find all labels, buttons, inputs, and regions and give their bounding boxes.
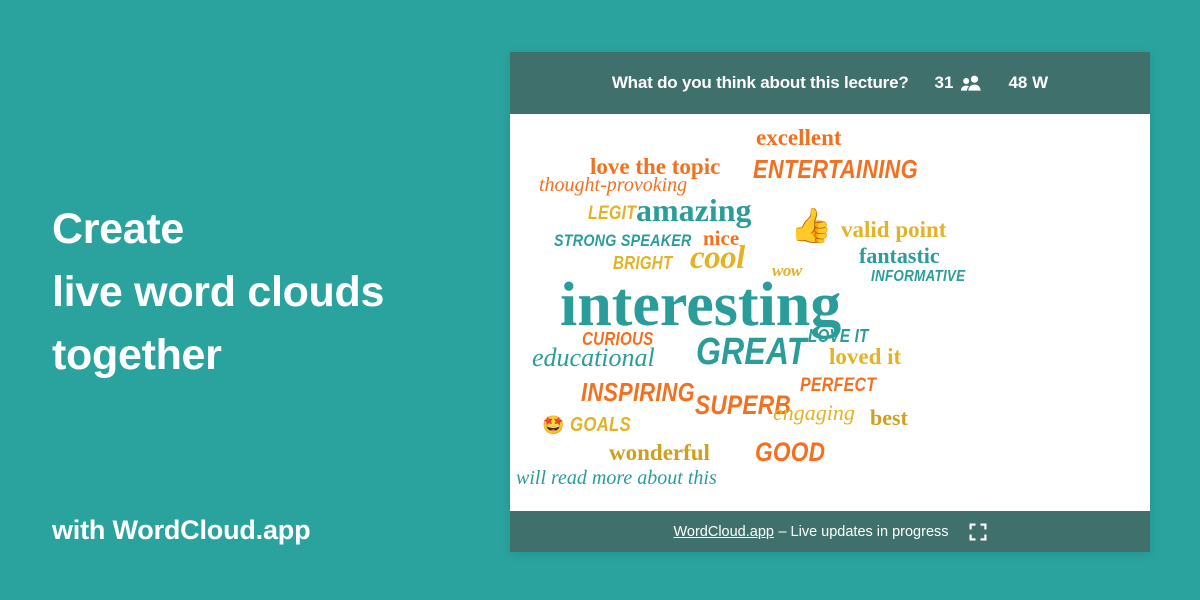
cloud-word[interactable]: loved it bbox=[829, 345, 901, 368]
cloud-word[interactable]: amazing bbox=[636, 194, 752, 226]
cloud-word[interactable]: INSPIRING bbox=[581, 379, 695, 405]
footer-content: WordCloud.app – Live updates in progress bbox=[673, 523, 948, 541]
cloud-word[interactable]: excellent bbox=[756, 126, 842, 149]
card-footer: WordCloud.app – Live updates in progress bbox=[510, 511, 1150, 552]
cloud-word[interactable]: valid point bbox=[841, 218, 946, 241]
participants-count: 31 bbox=[935, 73, 954, 93]
cloud-word[interactable]: best bbox=[870, 407, 908, 429]
headline-line-3: together bbox=[52, 324, 472, 387]
live-status-text: – Live updates in progress bbox=[778, 524, 948, 540]
cloud-word[interactable]: GOOD bbox=[755, 439, 825, 466]
card-header: What do you think about this lecture? 31… bbox=[510, 52, 1150, 114]
cloud-word[interactable]: interesting bbox=[560, 274, 841, 336]
cloud-word[interactable]: GREAT bbox=[696, 333, 807, 371]
promo-panel: Create live word clouds together with Wo… bbox=[0, 0, 500, 600]
cloud-word[interactable]: fantastic bbox=[859, 245, 940, 267]
participants-stat: 31 bbox=[935, 73, 983, 93]
cloud-word[interactable]: PERFECT bbox=[800, 376, 876, 395]
people-icon bbox=[960, 75, 982, 91]
cloud-word[interactable]: LEGIT bbox=[588, 204, 636, 223]
cloud-word[interactable]: educational bbox=[532, 345, 655, 371]
words-count: 48 W bbox=[1008, 73, 1048, 93]
thumbs-up-emoji: 👍 bbox=[790, 209, 832, 243]
cloud-word[interactable]: engaging bbox=[773, 402, 855, 424]
cloud-word[interactable]: LOVE IT bbox=[808, 327, 869, 345]
word-cloud-card: What do you think about this lecture? 31… bbox=[510, 52, 1150, 552]
cloud-word[interactable]: will read more about this bbox=[516, 468, 717, 488]
headline-line-2: live word clouds bbox=[52, 261, 472, 324]
cloud-word[interactable]: GOALS bbox=[570, 415, 631, 435]
cloud-word[interactable]: wonderful bbox=[609, 441, 710, 464]
page-title: Create live word clouds together bbox=[52, 198, 472, 388]
poll-question: What do you think about this lecture? bbox=[612, 73, 909, 93]
promo-branding: with WordCloud.app bbox=[52, 515, 310, 546]
cloud-word[interactable]: INFORMATIVE bbox=[871, 269, 965, 285]
headline-line-1: Create bbox=[52, 198, 472, 261]
word-cloud[interactable]: excellentlove the topicENTERTAININGthoug… bbox=[510, 114, 1150, 512]
wordcloud-app-link[interactable]: WordCloud.app bbox=[673, 524, 774, 540]
star-struck-emoji: 🤩 bbox=[542, 417, 564, 435]
cloud-word[interactable]: ENTERTAINING bbox=[753, 156, 918, 182]
cloud-word[interactable]: BRIGHT bbox=[613, 254, 672, 272]
collapse-icon[interactable] bbox=[969, 523, 987, 541]
cloud-word[interactable]: STRONG SPEAKER bbox=[554, 232, 692, 249]
